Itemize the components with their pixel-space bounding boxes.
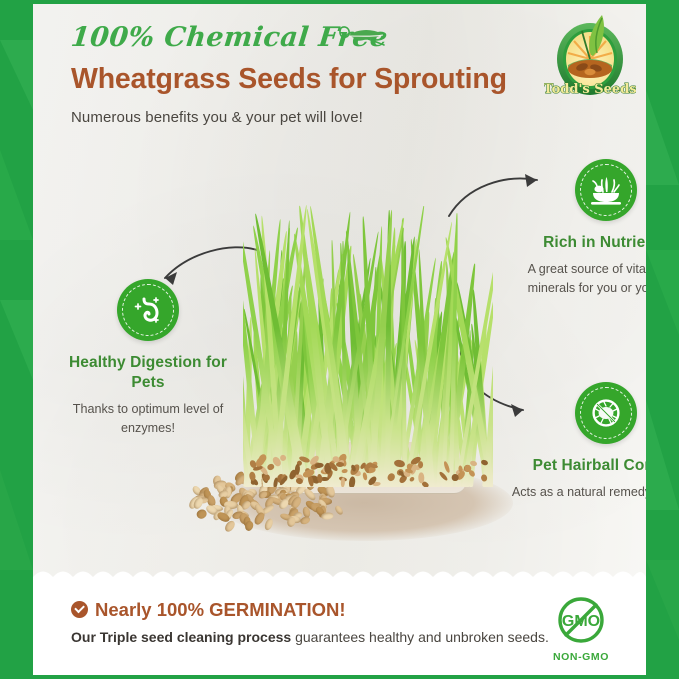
wheatgrass-blades bbox=[243, 187, 493, 487]
feature-heading: Pet Hairball Control bbox=[511, 456, 646, 476]
germination-text: Nearly 100% GERMINATION! bbox=[95, 599, 346, 620]
feature-healthy-digestion: Healthy Digestion for Pets Thanks to opt… bbox=[54, 279, 242, 438]
germination-headline: Nearly 100% GERMINATION! bbox=[71, 599, 346, 621]
frame-facet bbox=[646, 90, 679, 185]
frame-facet bbox=[646, 560, 679, 640]
feature-pet-hairball-control: Pet Hairball Control Acts as a natural r… bbox=[511, 382, 646, 502]
wheat-seed bbox=[321, 513, 334, 521]
non-gmo-badge: GMO NON-GMO bbox=[548, 595, 614, 663]
page-title: Wheatgrass Seeds for Sprouting bbox=[71, 63, 507, 96]
seed-husk bbox=[418, 461, 423, 468]
wheat-seed bbox=[244, 520, 254, 532]
frame-facet bbox=[0, 150, 33, 240]
infographic-canvas: 100% Chemical Free Wheatgrass Seeds for … bbox=[33, 4, 646, 675]
svg-text:Todd's Seeds: Todd's Seeds bbox=[544, 82, 636, 97]
process-rest: guarantees healthy and unbroken seeds. bbox=[291, 629, 549, 645]
feature-body: Acts as a natural remedy for pets. bbox=[511, 483, 646, 502]
frame-facet bbox=[0, 470, 33, 570]
feature-rich-in-nutrients: Rich in Nutrients A great source of vita… bbox=[511, 159, 646, 298]
wheat-seed bbox=[334, 504, 345, 515]
seed-husk bbox=[452, 474, 459, 481]
process-line: Our Triple seed cleaning process guarant… bbox=[71, 629, 549, 645]
frame-facet bbox=[0, 300, 33, 380]
feature-body: Thanks to optimum level of enzymes! bbox=[54, 400, 242, 438]
scalloped-edge bbox=[33, 568, 646, 582]
process-bold: Our Triple seed cleaning process bbox=[71, 629, 291, 645]
feature-heading: Rich in Nutrients bbox=[511, 233, 646, 253]
non-gmo-icon: GMO bbox=[556, 595, 606, 645]
wheat-seed bbox=[286, 516, 297, 528]
feature-body: A great source of vitamins & minerals fo… bbox=[511, 260, 646, 298]
non-gmo-label: NON-GMO bbox=[548, 651, 614, 663]
seed-husk bbox=[458, 465, 463, 472]
frame-facet bbox=[0, 40, 33, 110]
wheat-seed bbox=[264, 518, 275, 532]
no-hairball-icon bbox=[575, 382, 637, 444]
leaf-sprig-icon bbox=[338, 24, 386, 50]
feature-heading: Healthy Digestion for Pets bbox=[54, 353, 242, 393]
todds-seeds-logo: Todd's Seeds bbox=[544, 9, 636, 101]
page-subtitle: Numerous benefits you & your pet will lo… bbox=[71, 109, 363, 126]
wheat-seed bbox=[253, 511, 266, 526]
seed-husk bbox=[418, 473, 424, 484]
frame-facet bbox=[646, 400, 679, 510]
frame-facet bbox=[646, 250, 679, 335]
vegetable-bowl-icon bbox=[575, 159, 637, 221]
header: 100% Chemical Free Wheatgrass Seeds for … bbox=[33, 4, 646, 22]
stomach-icon bbox=[117, 279, 179, 341]
germination-banner: Nearly 100% GERMINATION! Our Triple seed… bbox=[33, 577, 646, 675]
wheat-seed bbox=[299, 516, 311, 526]
check-circle-icon bbox=[71, 601, 88, 618]
